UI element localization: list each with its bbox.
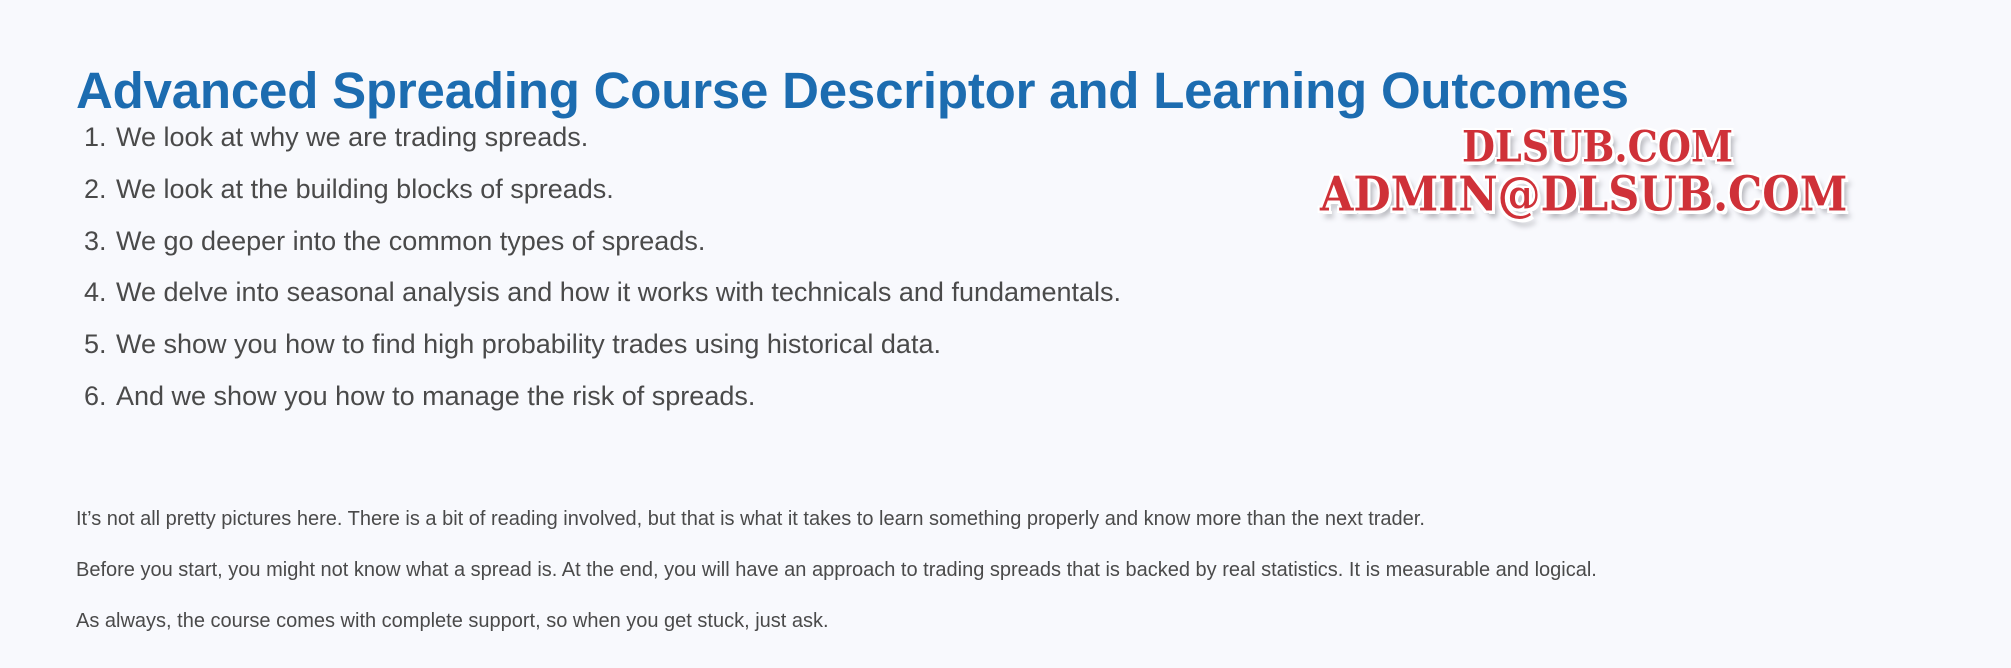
watermark-email-text: ADMIN@DLSUB.COM bbox=[1320, 167, 1847, 223]
notes-block: It’s not all pretty pictures here. There… bbox=[76, 486, 1976, 659]
list-item-number: 3. bbox=[84, 225, 116, 259]
watermark: DLSUB.COM ADMIN@DLSUB.COM bbox=[1320, 122, 1980, 242]
list-item-number: 2. bbox=[84, 173, 116, 207]
note-paragraph: Before you start, you might not know wha… bbox=[76, 557, 1976, 584]
list-item-label: We look at why we are trading spreads. bbox=[116, 121, 588, 155]
list-item-label: We delve into seasonal analysis and how … bbox=[116, 276, 1121, 310]
page-title: Advanced Spreading Course Descriptor and… bbox=[76, 60, 1629, 121]
note-paragraph: As always, the course comes with complet… bbox=[76, 608, 1976, 635]
list-item-number: 5. bbox=[84, 328, 116, 362]
slide-canvas: Advanced Spreading Course Descriptor and… bbox=[0, 0, 2011, 668]
list-item: 2. We look at the building blocks of spr… bbox=[84, 173, 1364, 207]
list-item-label: We go deeper into the common types of sp… bbox=[116, 225, 705, 259]
list-item-label: We look at the building blocks of spread… bbox=[116, 173, 614, 207]
list-item: 6. And we show you how to manage the ris… bbox=[84, 380, 1364, 414]
note-paragraph: It’s not all pretty pictures here. There… bbox=[76, 506, 1976, 533]
list-item-number: 4. bbox=[84, 276, 116, 310]
watermark-site-text: DLSUB.COM bbox=[1462, 121, 1733, 171]
list-item-number: 1. bbox=[84, 121, 116, 155]
list-item: 1. We look at why we are trading spreads… bbox=[84, 121, 1364, 155]
list-item: 4. We delve into seasonal analysis and h… bbox=[84, 276, 1364, 310]
list-item-label: And we show you how to manage the risk o… bbox=[116, 380, 755, 414]
list-item: 5. We show you how to find high probabil… bbox=[84, 328, 1364, 362]
learning-outcomes-list: 1. We look at why we are trading spreads… bbox=[44, 121, 1364, 432]
list-item-number: 6. bbox=[84, 380, 116, 414]
list-item: 3. We go deeper into the common types of… bbox=[84, 225, 1364, 259]
list-item-label: We show you how to find high probability… bbox=[116, 328, 941, 362]
